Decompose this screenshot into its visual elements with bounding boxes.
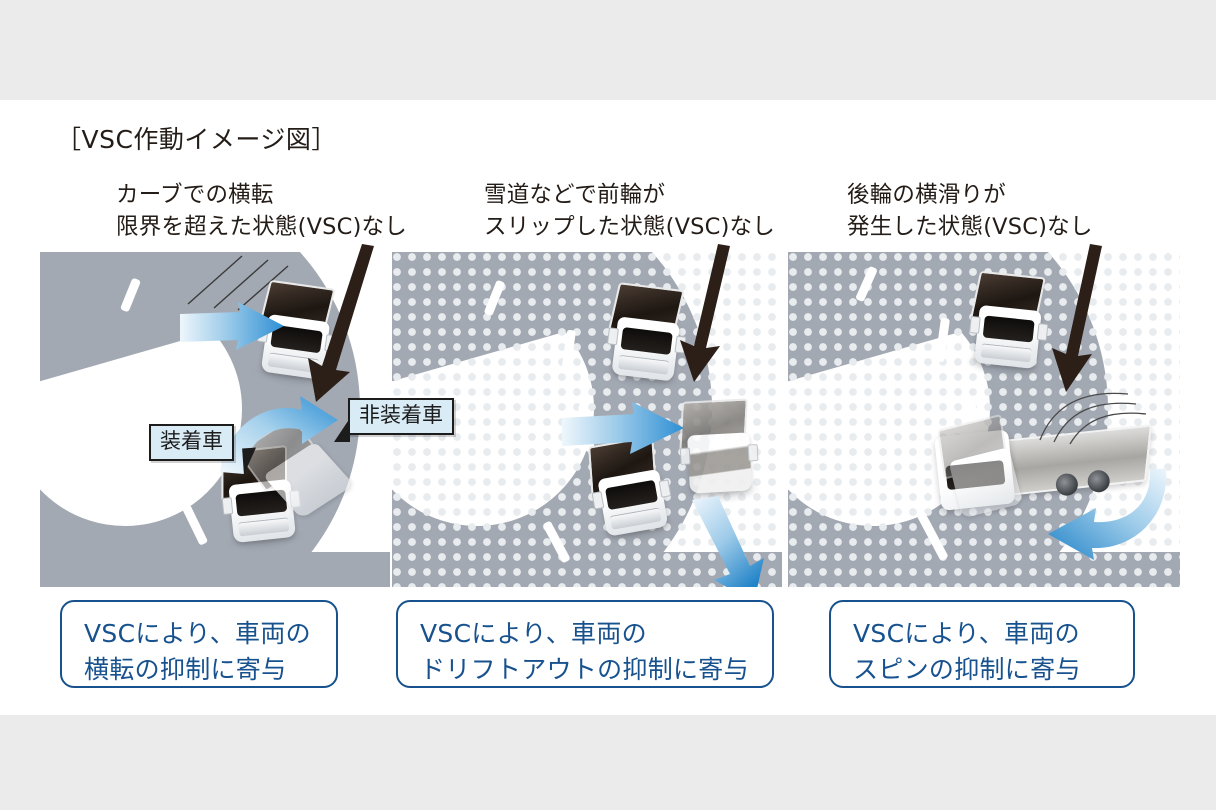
- caption-box-spin: VSCにより、車両の スピンの抑制に寄与: [829, 600, 1135, 688]
- pointer-arrow-drift-out: [672, 244, 752, 384]
- top-background-band: [0, 0, 1216, 100]
- callout-not-equipped-label: 非装着車: [359, 403, 443, 427]
- force-arrow-roll: [216, 394, 346, 484]
- force-arrow-lateral: [560, 400, 688, 460]
- bottom-background-band: [0, 715, 1216, 810]
- callout-equipped[interactable]: 装着車: [149, 424, 234, 461]
- figure-title: ［VSC作動イメージ図］: [56, 120, 337, 156]
- column-header-drift-out: 雪道などで前輪が スリップした状態(VSC)なし: [484, 180, 775, 244]
- pointer-arrow-rollover: [296, 244, 386, 404]
- caption-box-drift-out: VSCにより、車両の ドリフトアウトの抑制に寄与: [396, 600, 774, 688]
- pointer-arrow-spin: [1046, 244, 1126, 394]
- column-header-rollover: カーブでの横転 限界を超えた状態(VSC)なし: [116, 180, 407, 244]
- column-header-spin: 後輪の横滑りが 発生した状態(VSC)なし: [847, 180, 1093, 244]
- callout-tail: [334, 418, 350, 442]
- figure-canvas: ［VSC作動イメージ図］ カーブでの横転 限界を超えた状態(VSC)なし 雪道な…: [0, 0, 1216, 810]
- caption-box-rollover: VSCにより、車両の 横転の抑制に寄与: [60, 600, 338, 688]
- force-arrow-spin: [1034, 464, 1174, 560]
- spin-trace-lines: [1036, 386, 1156, 446]
- force-arrow-drift-out: [688, 496, 778, 587]
- callout-equipped-label: 装着車: [160, 429, 223, 453]
- force-arrow-lateral: [178, 300, 288, 356]
- callout-not-equipped[interactable]: 非装着車: [348, 398, 454, 435]
- vehicle-truck-upper: [961, 270, 1057, 382]
- callout-tail: [242, 448, 258, 475]
